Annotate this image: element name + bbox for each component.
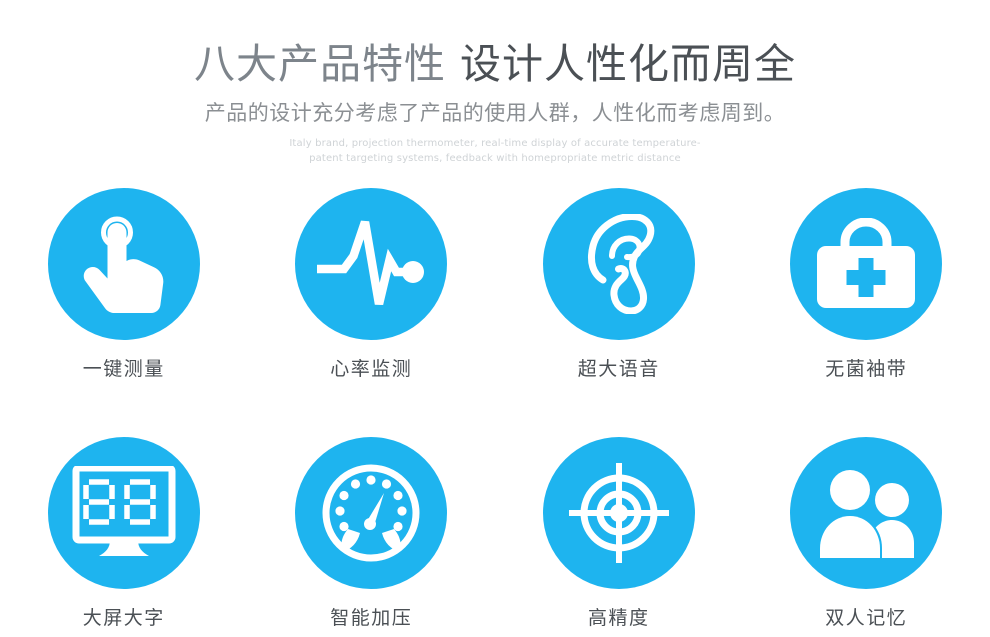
- feature-label: 高精度: [588, 605, 650, 631]
- ear-icon: [581, 214, 657, 314]
- page-title-part1: 八大产品特性: [194, 40, 446, 88]
- feature-icon-circle: [543, 188, 695, 340]
- page-subtitle: 产品的设计充分考虑了产品的使用人群，人性化而考虑周到。: [0, 99, 990, 127]
- feature-icon-circle: [48, 188, 200, 340]
- page-title-part2: 设计人性化而周全: [460, 40, 796, 88]
- feature-item-heart-rate[interactable]: 心率监测: [248, 188, 496, 382]
- two-users-icon: [814, 466, 918, 560]
- english-description: Italy brand, projection thermometer, rea…: [0, 136, 990, 166]
- feature-icon-circle: [295, 437, 447, 589]
- page-title: 八大产品特性设计人性化而周全: [0, 38, 990, 90]
- feature-icon-circle: [790, 437, 942, 589]
- feature-row-2: 大屏大字: [0, 437, 990, 631]
- hand-tap-icon: [78, 215, 170, 313]
- feature-label: 双人记忆: [825, 605, 907, 631]
- english-description-line1: Italy brand, projection thermometer, rea…: [0, 136, 990, 151]
- feature-label: 无菌袖带: [825, 356, 907, 382]
- heartbeat-pulse-icon: [317, 216, 425, 312]
- feature-grid: 一键测量 心率监测: [0, 188, 990, 631]
- feature-item-big-screen[interactable]: 大屏大字: [0, 437, 248, 631]
- feature-showcase-page: 八大产品特性设计人性化而周全 产品的设计充分考虑了产品的使用人群，人性化而考虑周…: [0, 0, 990, 637]
- feature-icon-circle: [543, 437, 695, 589]
- feature-item-dual-user-memory[interactable]: 双人记忆: [743, 437, 990, 631]
- feature-item-sterile-cuff[interactable]: 无菌袖带: [743, 188, 990, 382]
- feature-label: 智能加压: [330, 605, 412, 631]
- feature-item-high-precision[interactable]: 高精度: [495, 437, 743, 631]
- feature-label: 超大语音: [578, 356, 660, 382]
- pressure-gauge-icon: [321, 463, 421, 563]
- feature-icon-circle: [48, 437, 200, 589]
- feature-label: 大屏大字: [83, 605, 165, 631]
- feature-icon-circle: [790, 188, 942, 340]
- crosshair-target-icon: [567, 461, 671, 565]
- feature-label: 一键测量: [83, 356, 165, 382]
- feature-item-one-key-measure[interactable]: 一键测量: [0, 188, 248, 382]
- feature-icon-circle: [295, 188, 447, 340]
- feature-row-1: 一键测量 心率监测: [0, 188, 990, 382]
- english-description-line2: patent targeting systems, feedback with …: [0, 151, 990, 166]
- first-aid-kit-icon: [815, 218, 917, 310]
- feature-item-smart-pressure[interactable]: 智能加压: [248, 437, 496, 631]
- feature-label: 心率监测: [330, 356, 412, 382]
- feature-item-loud-voice[interactable]: 超大语音: [495, 188, 743, 382]
- monitor-digits-icon: [72, 466, 176, 560]
- page-header: 八大产品特性设计人性化而周全 产品的设计充分考虑了产品的使用人群，人性化而考虑周…: [0, 38, 990, 166]
